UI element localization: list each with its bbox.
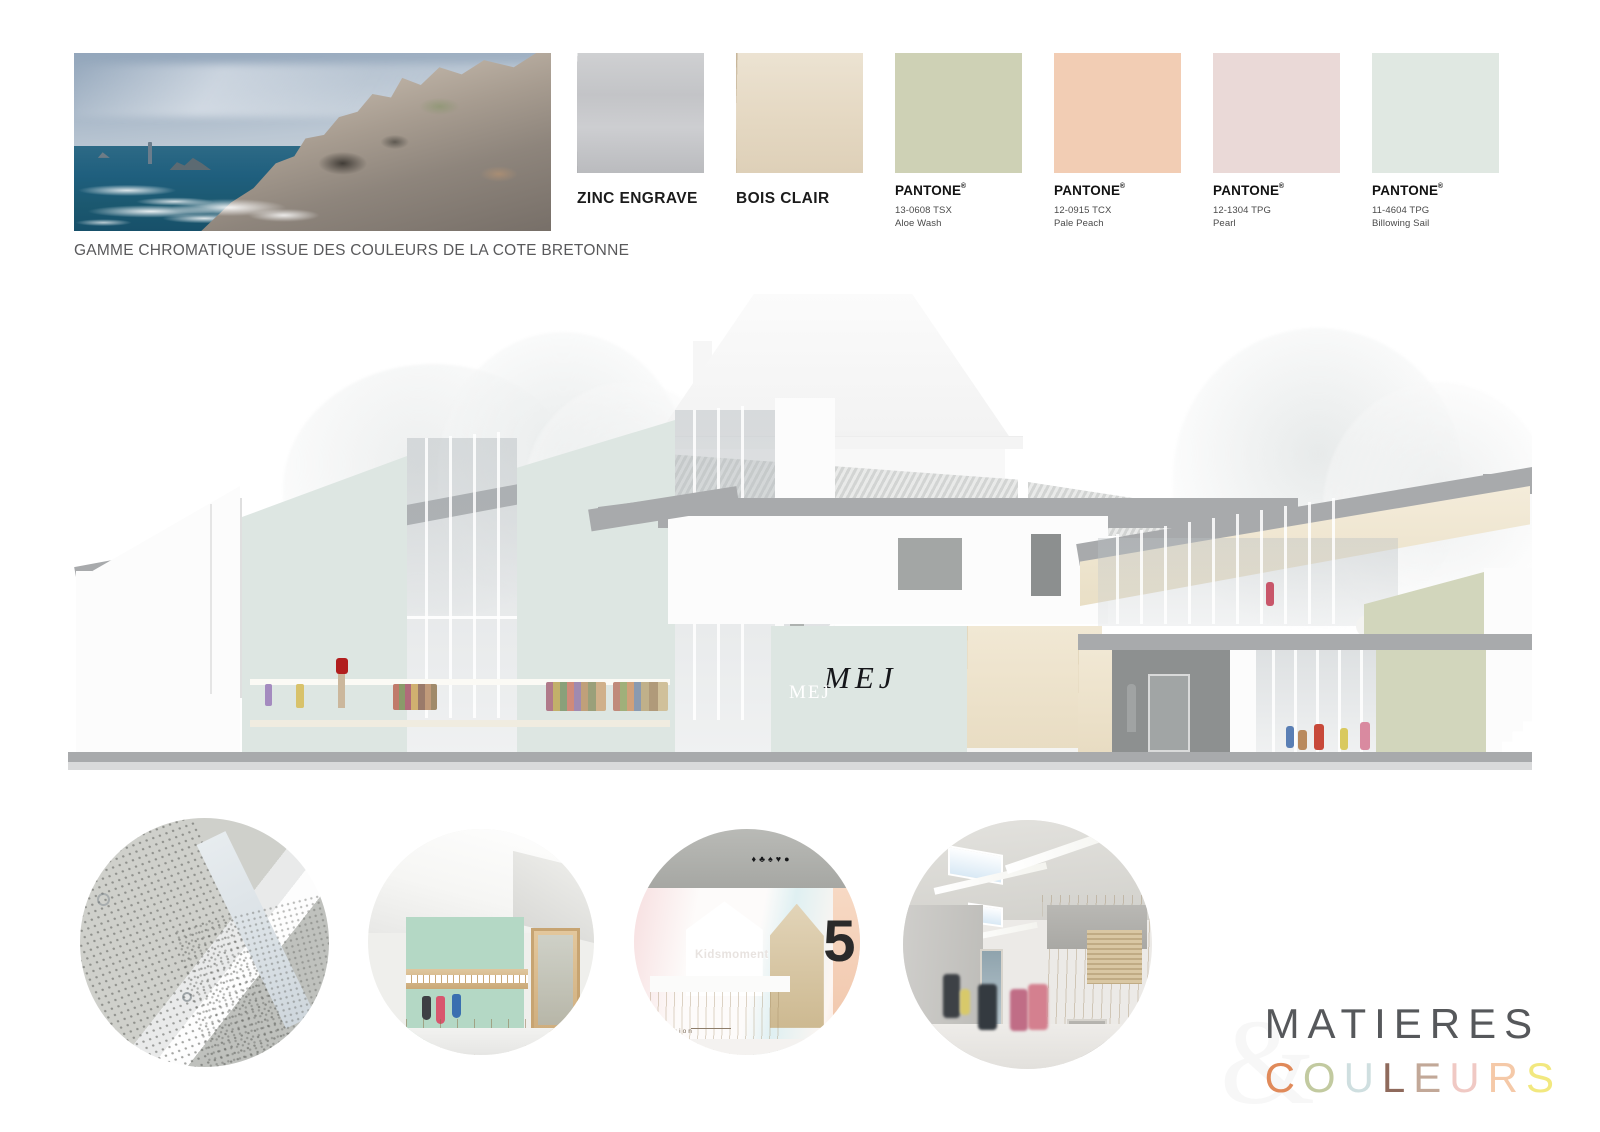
logo-letter-4: E [1413,1054,1449,1102]
ceiling-pictograms: ♦♣♠♥● [752,854,793,864]
pantone-brand: PANTONE® [1054,183,1120,198]
logo-line-matieres: MATIERES [1265,1000,1562,1048]
coat-rail [250,679,670,685]
timber-glazed-door [531,928,581,1032]
mullion [1272,650,1275,754]
retail-photo: ♦♣♠♥● Kidsmoment fashion 5 [634,829,860,1055]
mullion [449,436,452,718]
material-palette-row: ZINC ENGRAVE BOIS CLAIR PANTONE® 13-0608… [577,53,1531,229]
coastal-reference-block: GAMME CHROMATIQUE ISSUE DES COULEURS DE … [74,53,551,260]
school-corridor-wood-joinery [903,820,1152,1069]
mullion [473,434,476,718]
ground-shadow [68,761,1532,770]
child-figure [960,989,970,1015]
counter-label: fashion [659,1028,694,1035]
logo-letter-0: C [1265,1054,1303,1102]
child-figure-body [338,674,345,708]
linear-light [196,831,315,1029]
ground-slab [68,752,1532,762]
hanging-coat [296,684,304,708]
upper-end-wall [1484,568,1532,634]
presentation-board: GAMME CHROMATIQUE ISSUE DES COULEURS DE … [0,0,1600,1132]
pantone-code: 13-0608 TSX [895,205,1022,216]
mullion [1236,514,1239,624]
corridor-floor [903,1024,1152,1069]
zinc-texture-chip [577,53,704,173]
child-figure [978,984,997,1030]
playroom-wall-sage [1376,650,1486,754]
mullion [1116,534,1119,624]
mullion [1284,506,1287,624]
pantone-color-chip [1213,53,1340,173]
hanging-coat [265,684,272,706]
child-figure [1340,728,1348,750]
bench [250,720,670,727]
counter-top [650,976,790,992]
upper-opening [898,538,962,590]
pantone-card-pale-peach: PANTONE® 12-0915 TCX Pale Peach [1054,53,1213,229]
zinc-label: ZINC ENGRAVE [577,190,736,208]
logo-letter-7: S [1526,1054,1562,1102]
pantone-color-chip [1372,53,1499,173]
child-figure [336,658,348,674]
shop-floor [634,1039,860,1055]
pantone-name: Pearl [1213,218,1340,229]
coat-row [546,682,606,711]
interior-wall-white [92,486,240,761]
label-rule [691,1028,731,1029]
pantone-brand: PANTONE® [1213,183,1279,198]
floor-numeral: 5 [823,913,855,971]
clerestory-glazing [1098,538,1398,626]
mej-sign-primary: MEJ [824,660,898,696]
child-figure [1028,984,1048,1030]
partition [1230,650,1256,754]
grey-ceiling [634,829,860,888]
child-figure [1266,582,1274,606]
slotted-shelving [1087,930,1142,985]
ceiling-panels [80,818,329,1067]
coupe-perspective-mej: MEJ MEJ [68,286,1532,778]
lighthouse-icon [148,142,152,164]
material-swatch-zinc: ZINC ENGRAVE [577,53,736,229]
cloakroom-photo [368,829,594,1055]
logo-letter-2: U [1344,1054,1382,1102]
pantone-card-billowing-sail: PANTONE® 11-4604 TPG Billowing Sail [1372,53,1531,229]
pantone-card-aloe-wash: PANTONE® 13-0608 TSX Aloe Wash [895,53,1054,229]
coat-row [613,682,668,711]
child-figure [1286,726,1294,748]
wood-wall [1078,650,1112,754]
wood-label: BOIS CLAIR [736,190,895,208]
shop-sign: Kidsmoment [695,949,769,961]
cote-bretonne-photo [74,53,551,231]
ceiling-fixture [182,992,192,1002]
child-figure [1314,724,1324,750]
pantone-name: Aloe Wash [895,218,1022,229]
child-figure [1360,722,1370,750]
mullion [1164,526,1167,624]
locker-shelf [406,969,528,989]
mullion [1140,530,1143,624]
resin-floor [368,1028,594,1055]
upper-window [1031,534,1061,596]
pantone-brand: PANTONE® [895,183,961,198]
transom [407,616,517,619]
pantone-code: 12-0915 TCX [1054,205,1181,216]
mullion [1308,502,1311,624]
curtain-wall-glazing [407,438,517,761]
coat-row [393,684,437,710]
pantone-color-chip [895,53,1022,173]
logo-letter-1: O [1303,1054,1344,1102]
cloakroom-wall-mint [242,456,407,761]
corridor-photo [903,820,1152,1069]
child-figure [943,974,960,1018]
pantone-color-chip [1054,53,1181,173]
wall-joint [210,504,212,694]
mullion [425,438,428,718]
logo-letter-6: R [1488,1054,1526,1102]
child-figure [1298,730,1307,750]
hanging-bag [452,994,461,1018]
sea-foam [160,188,332,227]
mullion [1188,522,1191,624]
school-cloakroom-green-niche [368,829,594,1055]
pantone-name: Billowing Sail [1372,218,1499,229]
material-swatch-wood: BOIS CLAIR [736,53,895,229]
mullion [1332,498,1335,624]
palette-caption: GAMME CHROMATIQUE ISSUE DES COULEURS DE … [74,242,551,260]
logo-letter-5: U [1449,1054,1487,1102]
mezzanine-slab [1078,634,1532,650]
perforated-acoustic-ceiling [80,818,329,1067]
mullion [1260,510,1263,624]
logo-letter-3: L [1382,1054,1413,1102]
pantone-code: 11-4604 TPG [1372,205,1499,216]
logo-line-couleurs: COULEURS [1265,1054,1562,1102]
mej-signage-wall: MEJ MEJ [771,626,967,756]
brand-logo: MATIERES COULEURS [1265,1000,1562,1102]
hanging-coat [422,996,431,1020]
pantone-code: 12-1304 TPG [1213,205,1340,216]
mej-sign-secondary: MEJ [789,682,831,704]
mullion [1212,518,1215,624]
child-figure [1010,989,1028,1031]
person-silhouette [1127,684,1136,732]
kidsmoment-retail-interior: ♦♣♠♥● Kidsmoment fashion 5 [634,829,860,1055]
ceiling-fixture [96,891,113,908]
glass-door [1148,674,1190,752]
wood-texture-chip [736,53,863,173]
pantone-name: Pale Peach [1054,218,1181,229]
mullion [1294,650,1297,754]
pantone-brand: PANTONE® [1372,183,1438,198]
wall-joint [240,498,242,698]
pantone-card-pearl: PANTONE® 12-1304 TPG Pearl [1213,53,1372,229]
end-wall [76,571,92,761]
mullion [497,432,500,718]
